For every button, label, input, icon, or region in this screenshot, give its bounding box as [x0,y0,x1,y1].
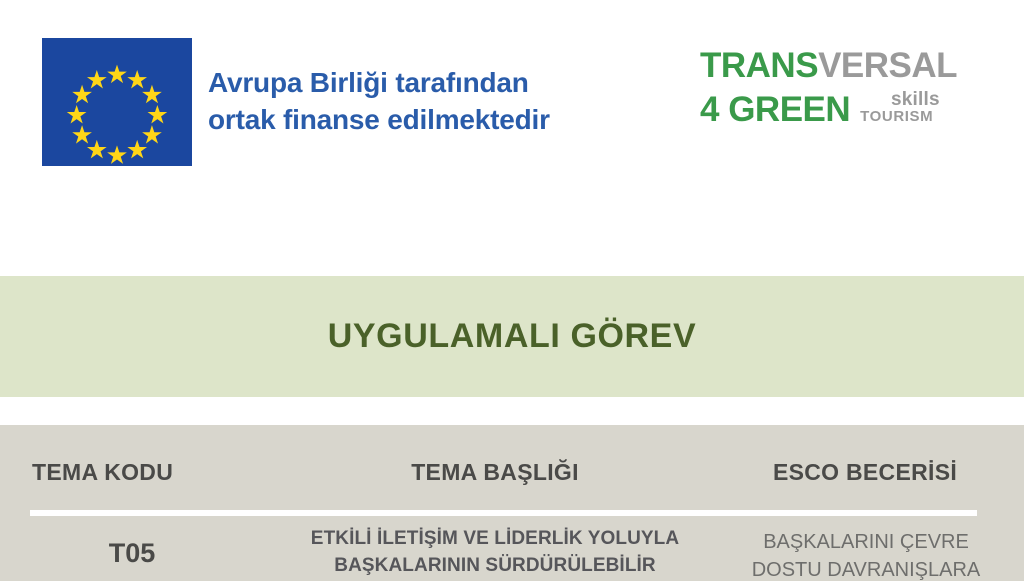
transversal4green-logo: TRANSVERSAL skills 4 GREEN TOURISM [700,48,990,127]
logo-header-band: Avrupa Birliği tarafından ortak finanse … [0,0,1024,276]
logo-text-versal: VERSAL [818,46,957,85]
logo-line-4green: 4 GREEN TOURISM [700,92,990,127]
eu-funding-statement: Avrupa Birliği tarafından ortak finanse … [42,38,550,166]
table-header-row: TEMA KODU TEMA BAŞLIĞI ESCO BECERİSİ [0,425,1024,510]
document-page: Avrupa Birliği tarafından ortak finanse … [0,0,1024,581]
table-header-divider [30,510,977,516]
logo-sublabels: TOURISM [860,109,933,126]
logo-line-transversal: TRANSVERSAL [700,48,990,83]
column-header-esco-becerisi: ESCO BECERİSİ [745,459,985,486]
column-header-tema-basligi: TEMA BAŞLIĞI [260,459,730,486]
section-banner-title: UYGULAMALI GÖREV [328,317,697,356]
logo-text-tourism: TOURISM [860,109,933,126]
logo-text-trans: TRANS [700,46,818,85]
section-banner: UYGULAMALI GÖREV [0,276,1024,397]
theme-table: TEMA KODU TEMA BAŞLIĞI ESCO BECERİSİ T05… [0,425,1024,581]
eu-funding-text: Avrupa Birliği tarafından ortak finanse … [208,65,550,139]
logo-text-skills: skills [891,90,940,109]
column-header-tema-kodu: TEMA KODU [32,459,173,486]
cell-esco-becerisi: BAŞKALARINI ÇEVRE DOSTU DAVRANIŞLARA [742,528,990,581]
logo-text-4green: 4 GREEN [700,92,850,127]
eu-flag-icon [42,38,192,166]
cell-tema-kodu: T05 [32,538,232,569]
eu-funding-line-1: Avrupa Birliği tarafından [208,67,529,98]
eu-funding-line-2: ortak finanse edilmektedir [208,102,550,139]
cell-tema-basligi: ETKİLİ İLETİŞİM VE LİDERLİK YOLUYLA BAŞK… [255,526,735,580]
